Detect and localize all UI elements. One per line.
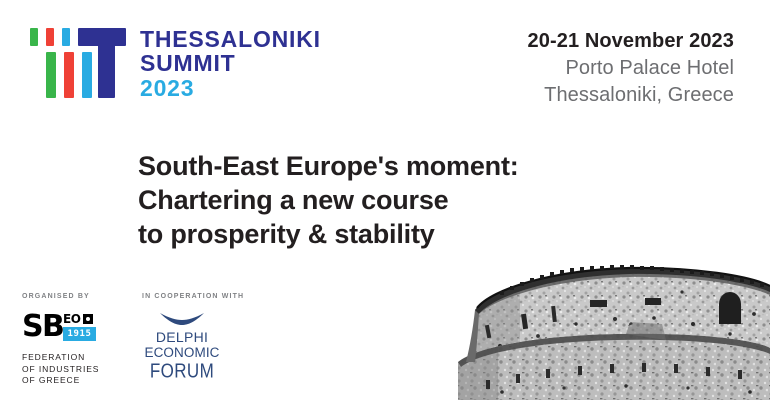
event-city: Thessaloniki, Greece [528,82,734,109]
logo-bar-green-tall [46,52,56,98]
logo-bar-cyan-tall [82,52,92,98]
logo-bar-cyan-small [62,28,70,46]
event-venue: Porto Palace Hotel [528,55,734,82]
sbe-caption-line-3: OF GREECE [22,375,99,387]
page-title: South-East Europe's moment: Chartering a… [138,149,519,251]
summit-logo-mark-icon [30,26,126,100]
organised-by-block: ORGANISED BY SB EO 1915 FEDERATION OF IN… [22,293,99,387]
event-details: 20-21 November 2023 Porto Palace Hotel T… [528,28,734,109]
logo-text-summit: SUMMIT [140,51,321,75]
delphi-text-economic: ECONOMIC [142,345,222,360]
event-banner: THESSALONIKI SUMMIT 2023 20-21 November … [0,0,770,400]
sbe-caption-line-2: OF INDUSTRIES [22,364,99,376]
sbe-caption-line-1: FEDERATION [22,352,99,364]
logo-bar-green-small [30,28,38,46]
sbe-gear-icon [83,314,93,324]
logo-text-thessaloniki: THESSALONIKI [140,27,321,51]
sbe-logo-eo: EO [63,313,80,325]
white-tower-illustration [430,262,770,400]
in-cooperation-with-label: IN COOPERATION WITH [142,293,244,300]
event-date: 20-21 November 2023 [528,28,734,55]
headline-line-3: to prosperity & stability [138,217,519,251]
thessaloniki-summit-logo[interactable]: THESSALONIKI SUMMIT 2023 [30,26,321,101]
logo-bar-red-tall [64,52,74,98]
headline-line-1: South-East Europe's moment: [138,149,519,183]
headline-line-2: Chartering a new course [138,183,519,217]
logo-bar-red-small [46,28,54,46]
delphi-chevron-icon [159,312,205,327]
sbe-logo[interactable]: SB EO 1915 [22,312,98,343]
sbe-caption: FEDERATION OF INDUSTRIES OF GREECE [22,352,99,387]
white-tower-photo [430,262,770,400]
logo-letter-t-stem [98,28,115,98]
delphi-text-delphi: DELPHI [142,330,222,345]
organised-by-label: ORGANISED BY [22,293,99,300]
logo-text-year: 2023 [140,75,321,101]
delphi-text-forum: FORUM [142,361,222,382]
sbe-logo-year: 1915 [63,327,96,341]
summit-logo-wordmark: THESSALONIKI SUMMIT 2023 [140,26,321,101]
in-cooperation-with-block: IN COOPERATION WITH DELPHI ECONOMIC FORU… [142,293,244,379]
sbe-logo-letters: SB [22,312,63,342]
delphi-economic-forum-logo[interactable]: DELPHI ECONOMIC FORUM [142,312,222,379]
